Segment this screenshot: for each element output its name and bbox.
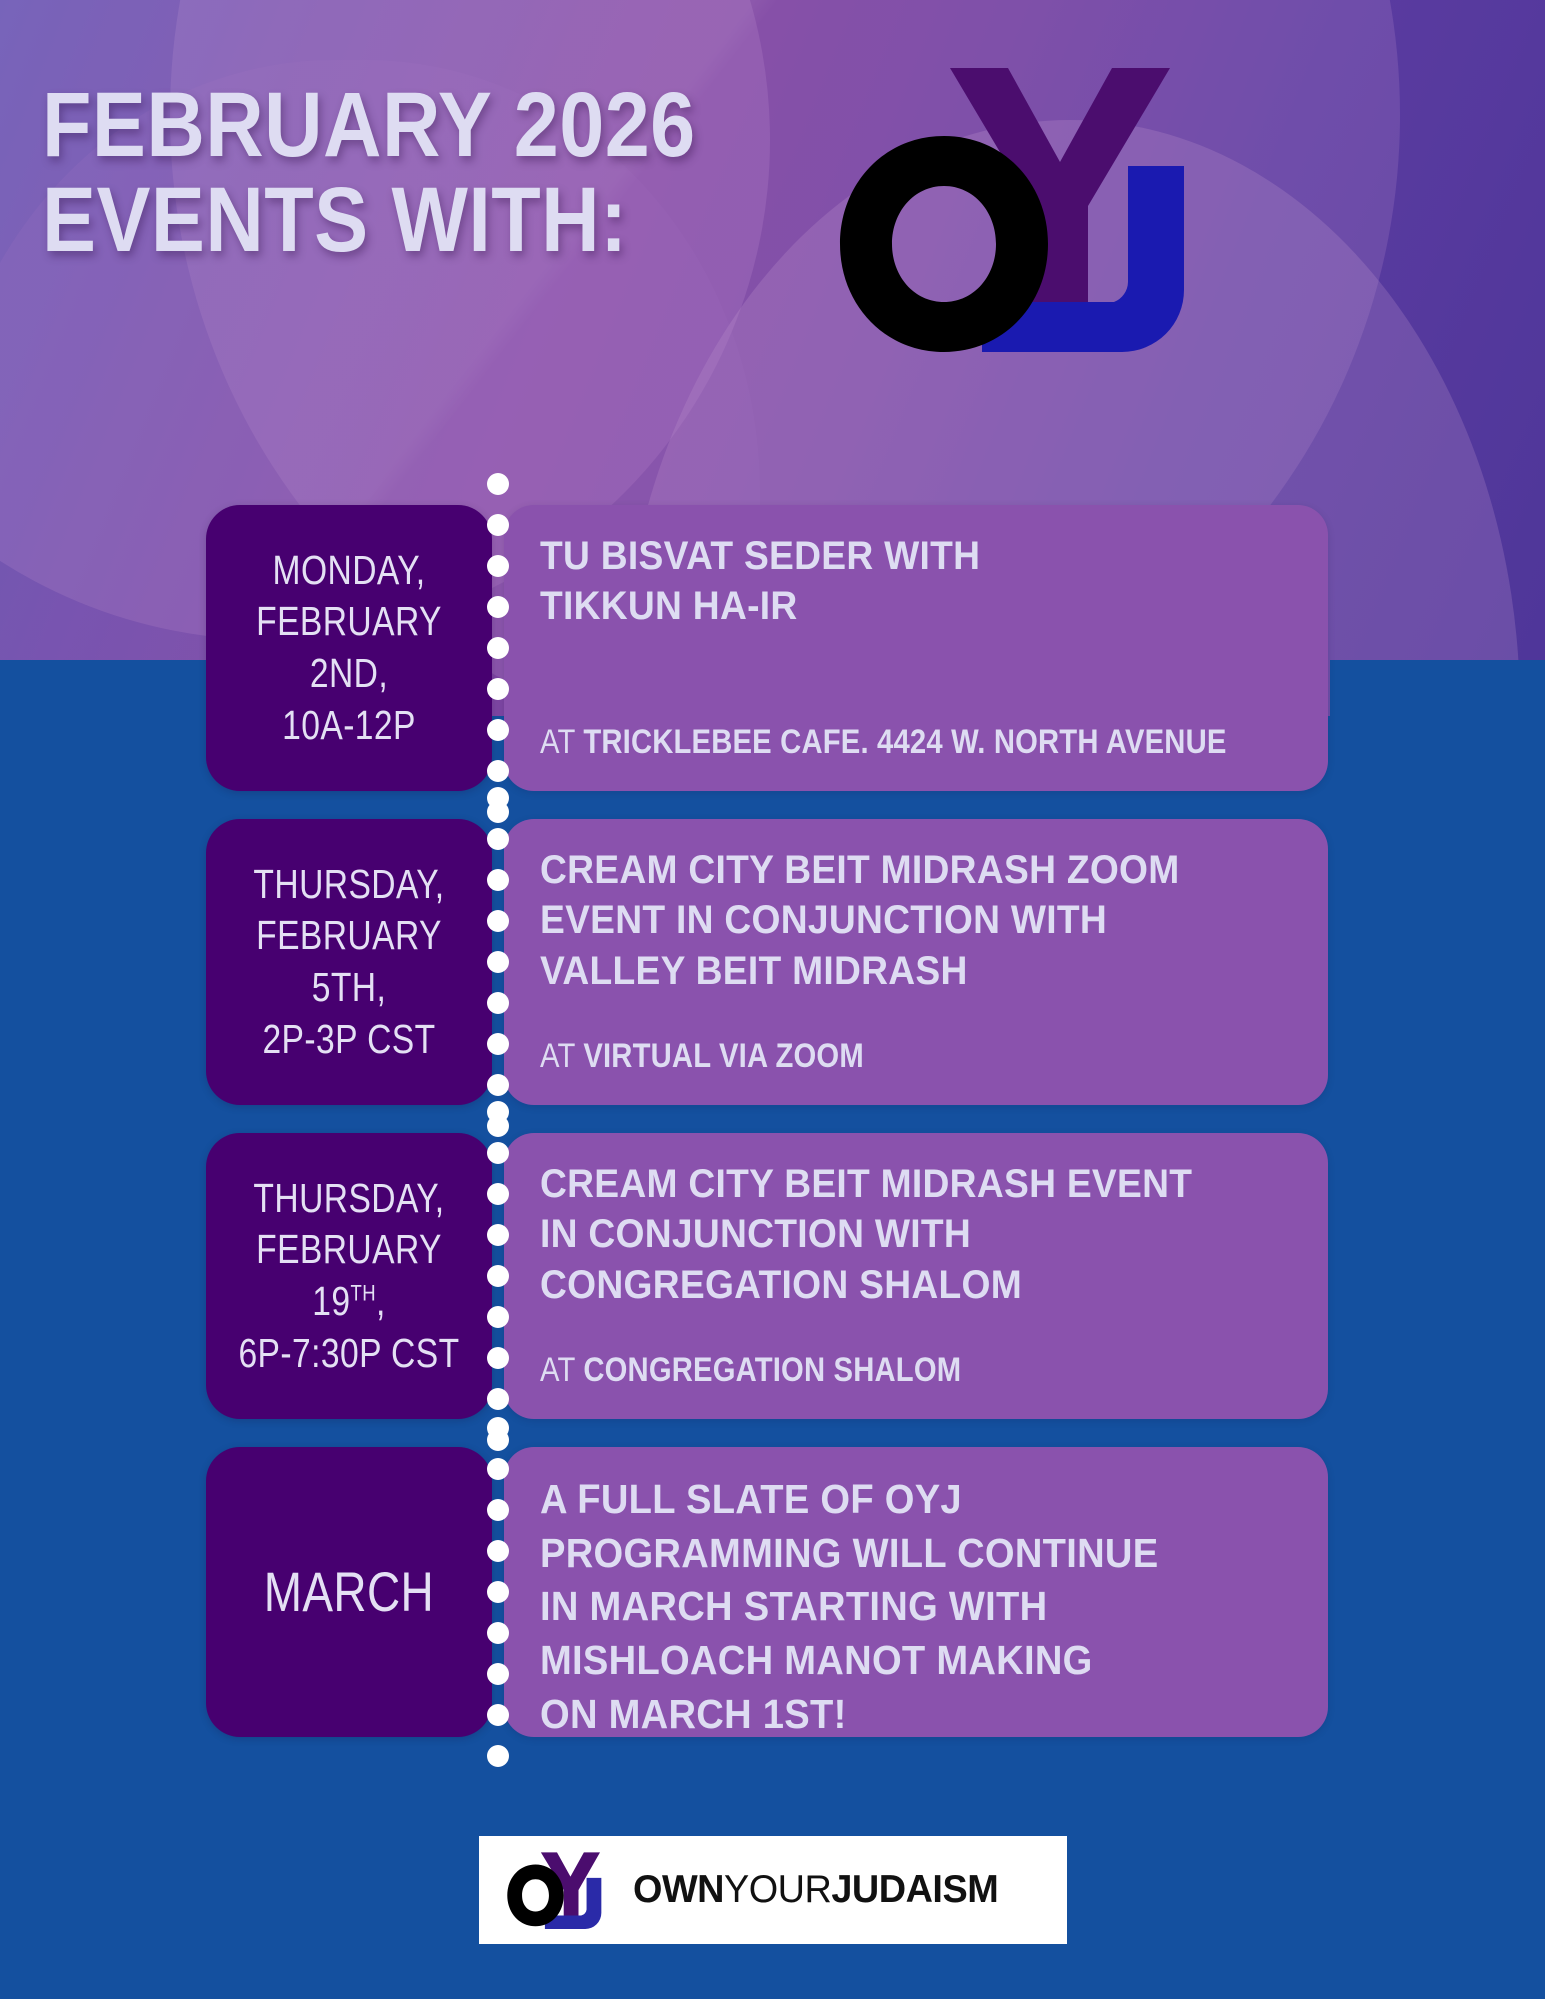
dotted-divider [487,473,511,823]
event-date-ordinal: TH [350,1280,375,1305]
event-date-card: THURSDAY,FEBRUARY 19TH,6P-7:30P CST [206,1133,492,1419]
page-title: FEBRUARY 2026 EVENTS WITH: [42,78,696,268]
venue-name: CONGREGATION SHALOM [583,1351,961,1389]
event-date-card: THURSDAY, FEBRUARY 5TH, 2P-3P CST [206,819,492,1105]
event-title: CREAM CITY BEIT MIDRASH EVENT IN CONJUNC… [540,1159,1241,1310]
footer-wordmark: OWNYOURJUDAISM [633,1868,998,1912]
event-content-card: CREAM CITY BEIT MIDRASH EVENT IN CONJUNC… [504,1133,1328,1419]
event-date-day: THURSDAY, [253,1175,444,1221]
venue-name: TRICKLEBEE CAFE. 4424 W. NORTH AVENUE [583,723,1226,761]
oyj-logo-icon [832,54,1232,384]
event-date-text: MONDAY, FEBRUARY 2ND, 10A-12P [232,545,467,752]
venue-prefix: AT [540,1037,575,1075]
venue-name: VIRTUAL VIA ZOOM [583,1037,864,1075]
event-date-text: THURSDAY, FEBRUARY 5TH, 2P-3P CST [232,859,467,1066]
event-row[interactable]: THURSDAY,FEBRUARY 19TH,6P-7:30P CST CREA… [0,1133,1545,1419]
footer-logo-bar: OWNYOURJUDAISM [479,1836,1067,1944]
event-content-card: CREAM CITY BEIT MIDRASH ZOOM EVENT IN CO… [504,819,1328,1105]
event-title: TU BISVAT SEDER WITH TIKKUN HA-IR [540,531,1241,632]
dotted-divider [487,1417,511,1767]
event-date-text: MARCH [264,1557,434,1628]
event-date-card: MONDAY, FEBRUARY 2ND, 10A-12P [206,505,492,791]
events-list: MONDAY, FEBRUARY 2ND, 10A-12P TU BISVAT … [0,505,1545,1765]
wordmark-judaism: JUDAISM [831,1868,998,1911]
event-date-card: MARCH [206,1447,492,1737]
dotted-divider [487,787,511,1137]
wordmark-own: OWN [633,1868,724,1911]
event-date-suffix: , [376,1278,386,1324]
event-content-card: TU BISVAT SEDER WITH TIKKUN HA-IR AT TRI… [504,505,1328,791]
event-date-text: THURSDAY,FEBRUARY 19TH,6P-7:30P CST [232,1173,467,1380]
event-date-time: 6P-7:30P CST [238,1330,459,1376]
wordmark-your: YOUR [724,1868,831,1911]
dotted-divider [487,1101,511,1451]
flyer-canvas: FEBRUARY 2026 EVENTS WITH: MONDAY, FEBRU… [0,0,1545,1999]
oyj-logo-small-icon [503,1847,611,1933]
event-venue: AT CONGREGATION SHALOM [540,1352,1192,1389]
event-title: CREAM CITY BEIT MIDRASH ZOOM EVENT IN CO… [540,845,1241,996]
event-row[interactable]: MONDAY, FEBRUARY 2ND, 10A-12P TU BISVAT … [0,505,1545,791]
event-content-card: A FULL SLATE OF OYJ PROGRAMMING WILL CON… [504,1447,1328,1737]
event-title: A FULL SLATE OF OYJ PROGRAMMING WILL CON… [540,1473,1241,1742]
event-date-prefix: FEBRUARY 19 [256,1226,442,1324]
event-venue: AT VIRTUAL VIA ZOOM [540,1038,1192,1075]
event-row[interactable]: THURSDAY, FEBRUARY 5TH, 2P-3P CST CREAM … [0,819,1545,1105]
event-venue: AT TRICKLEBEE CAFE. 4424 W. NORTH AVENUE [540,724,1192,761]
event-row[interactable]: MARCH A FULL SLATE OF OYJ PROGRAMMING WI… [0,1447,1545,1737]
venue-prefix: AT [540,723,575,761]
venue-prefix: AT [540,1351,575,1389]
